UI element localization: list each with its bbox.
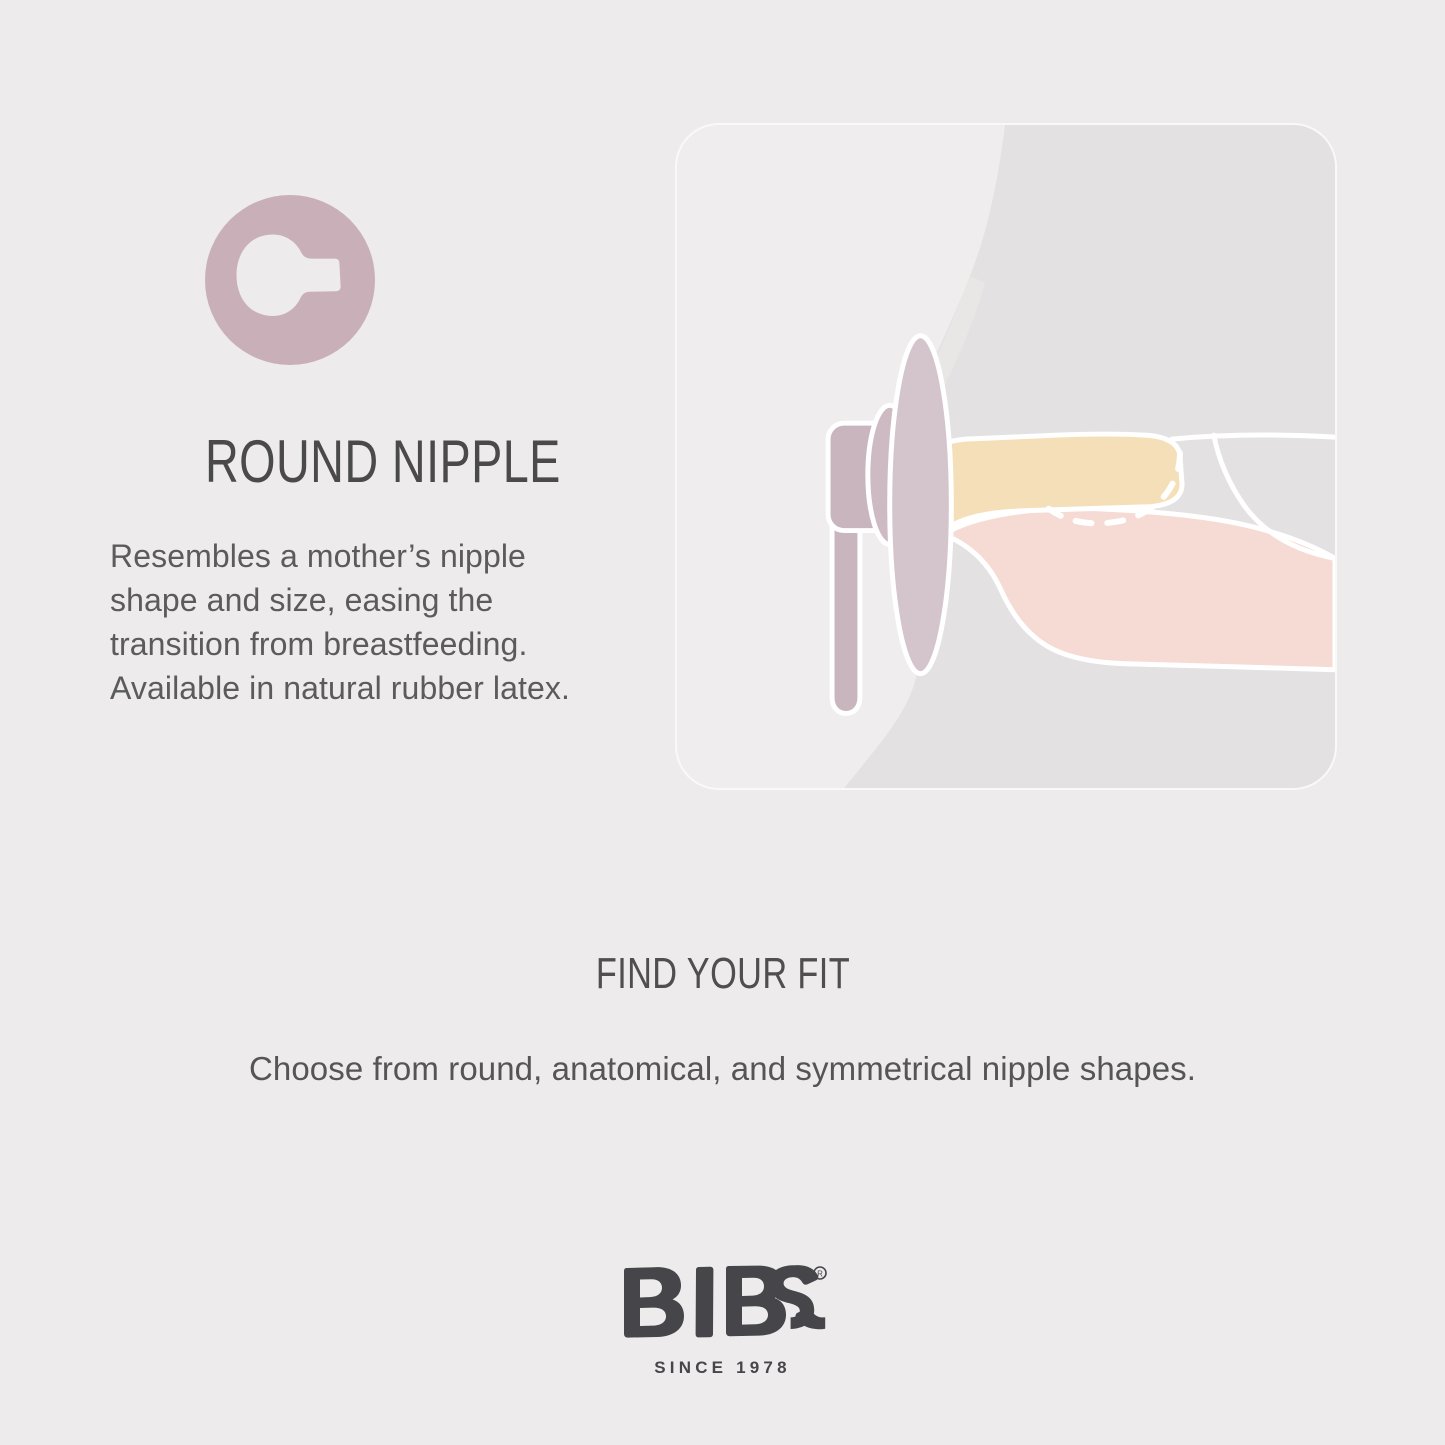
logo-tagline: SINCE 1978 <box>0 1358 1445 1378</box>
illustration-panel <box>675 123 1337 790</box>
feature-column: ROUND NIPPLE Resembles a mother’s nipple… <box>110 190 630 711</box>
brand-logo: R SINCE 1978 <box>0 1265 1445 1378</box>
round-nipple-shape-icon <box>200 190 380 370</box>
baby-profile-with-pacifier-illustration <box>677 125 1335 788</box>
bibs-wordmark-logo: R <box>618 1265 828 1341</box>
feature-description: Resembles a mother’s nipple shape and si… <box>110 534 610 711</box>
find-your-fit-section: FIND YOUR FIT Choose from round, anatomi… <box>0 952 1445 1091</box>
logo-registered-mark-letter: R <box>817 1269 823 1278</box>
logo-letter-b-heart <box>624 1267 684 1337</box>
find-your-fit-heading: FIND YOUR FIT <box>595 952 849 996</box>
pacifier-shield <box>890 336 952 674</box>
feature-title: ROUND NIPPLE <box>205 432 537 492</box>
logo-letter-i <box>695 1267 713 1338</box>
logo-heart-icon <box>640 1284 657 1298</box>
find-your-fit-subtitle: Choose from round, anatomical, and symme… <box>0 1048 1445 1091</box>
page-canvas: ROUND NIPPLE Resembles a mother’s nipple… <box>0 0 1445 1445</box>
